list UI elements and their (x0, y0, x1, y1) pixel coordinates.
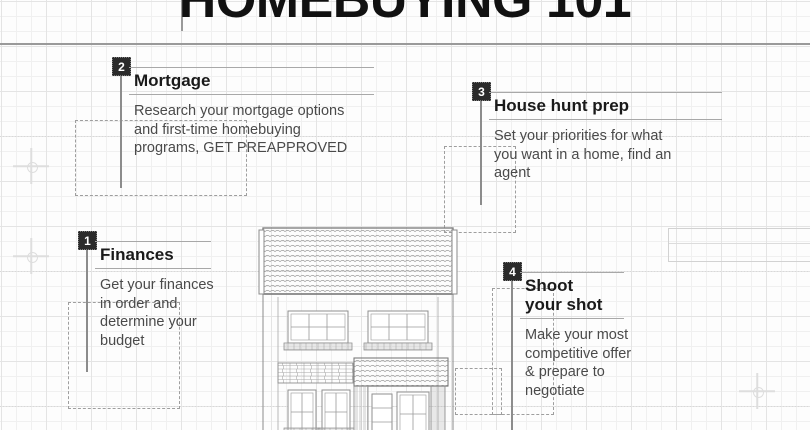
crosshair-marker-icon (13, 238, 49, 274)
house-blueprint-drawing (255, 222, 470, 430)
step-4-spine (511, 281, 513, 430)
step-3-heading: House hunt prep (489, 93, 739, 119)
page-title: HOMEBUYING 101 (0, 0, 810, 26)
step-1-heading: Finances (95, 242, 267, 268)
step-2-description: Research your mortgage options and first… (129, 95, 429, 158)
step-2-heading: Mortgage (129, 68, 429, 94)
step-1-description: Get your finances in order and determine… (95, 269, 267, 350)
step-3-spine (480, 101, 482, 205)
step-4-description: Make your most competitive offer & prepa… (520, 319, 710, 400)
infographic-canvas: HOMEBUYING 101 (0, 0, 810, 430)
step-2-spine (120, 76, 122, 188)
crosshair-marker-icon (739, 373, 775, 409)
step-1-spine (86, 250, 88, 372)
detail-rectangle-divider (669, 243, 810, 244)
step-3-description: Set your priorities for what you want in… (489, 120, 739, 183)
step-4-heading: Shoot your shot (520, 273, 710, 318)
crosshair-marker-icon (13, 148, 49, 184)
header-divider (0, 43, 810, 45)
detail-rectangle (668, 228, 810, 262)
